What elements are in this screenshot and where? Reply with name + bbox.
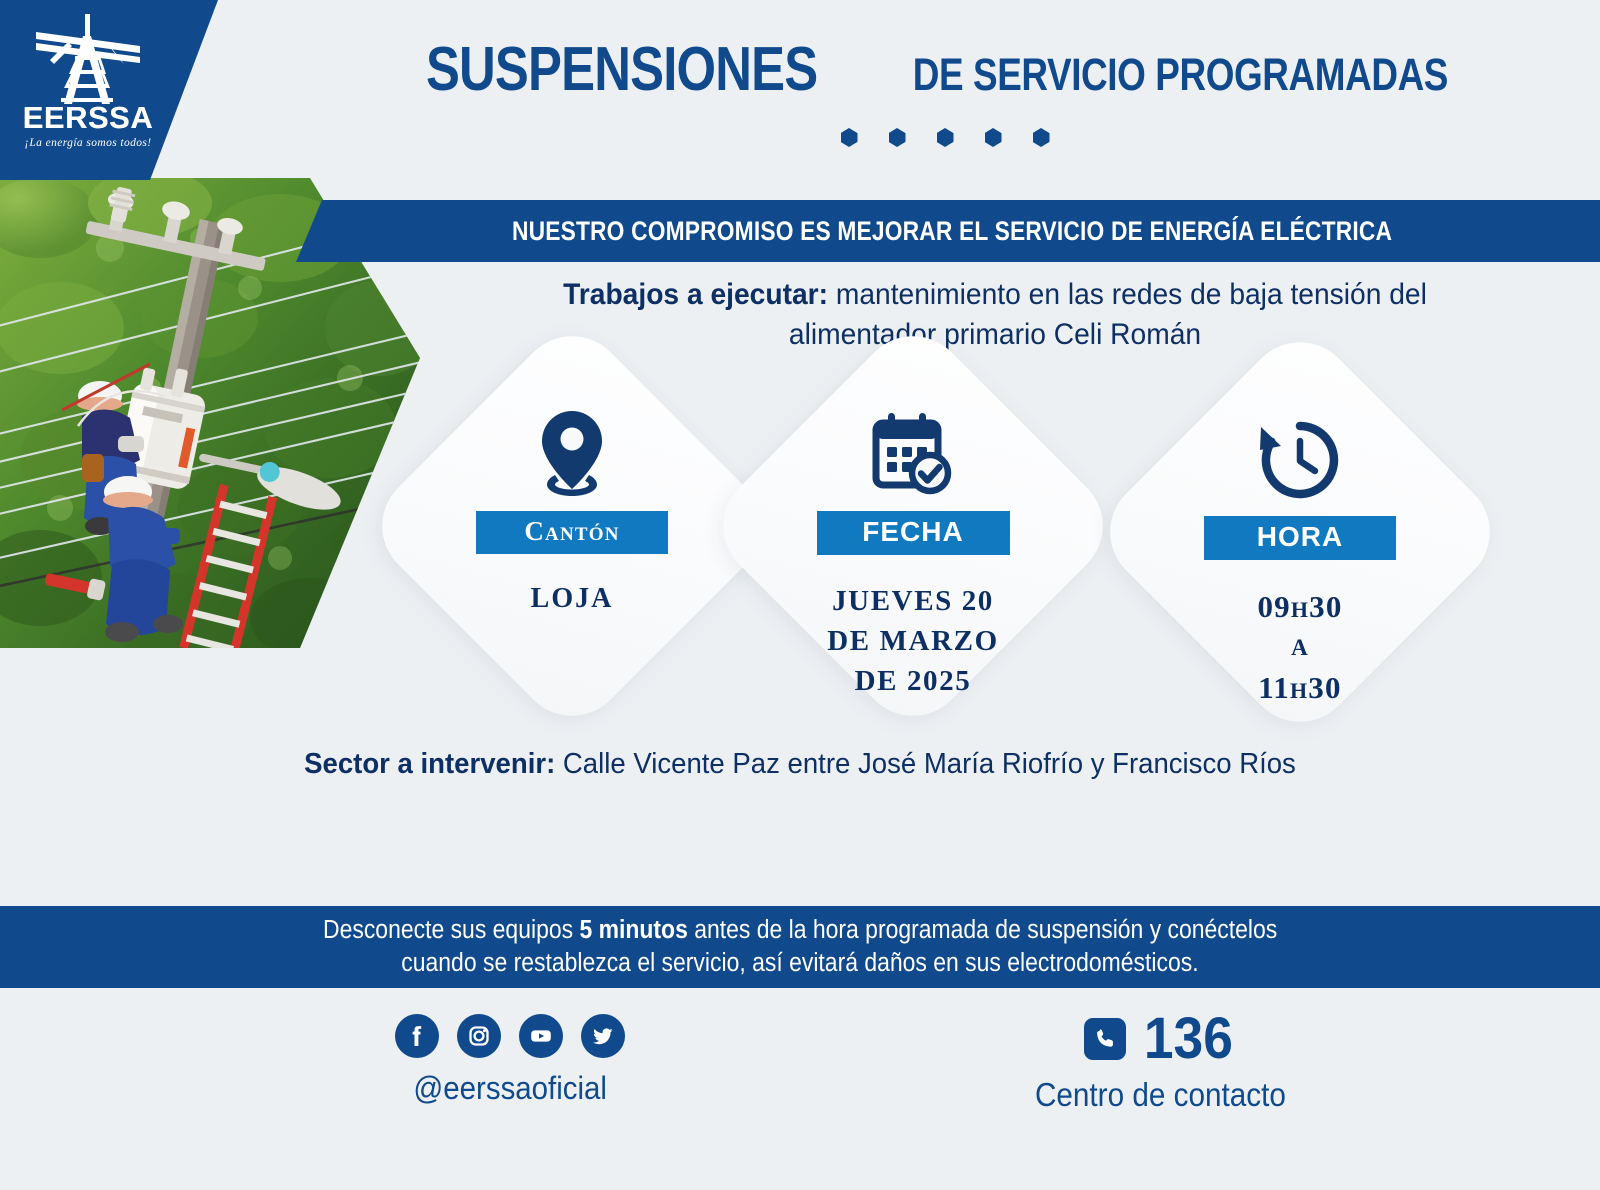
dot-icon	[841, 128, 858, 147]
card-hora-start-min: 30	[1309, 589, 1342, 624]
notice-line-1: Desconecte sus equipos 5 minutos antes d…	[323, 916, 1277, 945]
contact-block: 136 Centro de contacto	[930, 1010, 1390, 1114]
footer: @eerssaoficial 136 Centro de contacto	[0, 988, 1600, 1190]
card-canton-value: LOJA	[531, 580, 614, 619]
works-label: Trabajos a ejecutar:	[563, 278, 828, 311]
phone-icon	[1084, 1018, 1126, 1060]
notice-text-b: antes de la hora programada de suspensió…	[688, 916, 1277, 944]
page-title: SUSPENSIONESDE SERVICIO PROGRAMADAS	[300, 34, 1590, 105]
works-value-1: mantenimiento en las redes de baja tensi…	[828, 278, 1427, 311]
calendar-check-icon	[870, 407, 956, 503]
dot-icon	[937, 128, 954, 147]
dot-icon	[985, 128, 1002, 147]
youtube-icon[interactable]	[519, 1014, 563, 1058]
works-description: Trabajos a ejecutar: mantenimiento en la…	[464, 275, 1526, 354]
card-hora-label: HORA	[1257, 521, 1343, 552]
card-fecha-value-line-1: JUEVES 20	[827, 581, 999, 621]
card-fecha-label: FECHA	[862, 516, 963, 547]
card-hora-end-min: 30	[1308, 670, 1341, 705]
works-line-2: alimentador primario Celi Román	[464, 315, 1526, 355]
social-handle[interactable]: @eerssaoficial	[413, 1070, 607, 1107]
card-hora-value: 09H30 A 11H30	[1257, 586, 1342, 709]
works-line-1: Trabajos a ejecutar: mantenimiento en la…	[464, 275, 1526, 315]
contact-number[interactable]: 136	[1143, 1010, 1232, 1068]
dot-icon	[889, 128, 906, 147]
card-fecha-value-line-2: DE MARZO	[827, 621, 999, 661]
page-title-main: SUSPENSIONES	[426, 34, 817, 105]
page-title-rest: DE SERVICIO PROGRAMADAS	[913, 49, 1448, 101]
clock-restore-icon	[1257, 412, 1343, 508]
sector-label: Sector a intervenir:	[304, 748, 555, 780]
dot-icon	[1033, 128, 1050, 147]
notice-line-2: cuando se restablezca el servicio, así e…	[401, 949, 1198, 978]
logo-panel: EERSSA ¡La energía somos todos!	[0, 0, 218, 180]
card-hora-start: 09H30	[1257, 586, 1342, 629]
sector-line: Sector a intervenir: Calle Vicente Paz e…	[135, 748, 1465, 781]
card-canton: Cantón LOJA	[407, 407, 737, 619]
instagram-icon[interactable]	[457, 1014, 501, 1058]
location-pin-icon	[533, 407, 611, 503]
card-hora-end-num: 11	[1258, 670, 1290, 705]
card-fecha: FECHA JUEVES 20 DE MARZO DE 2025	[748, 407, 1078, 701]
poster-root: EERSSA ¡La energía somos todos! SUSPENSI…	[0, 0, 1600, 1190]
title-dot-separator	[300, 128, 1590, 147]
social-block: @eerssaoficial	[330, 1014, 690, 1107]
facebook-icon[interactable]	[395, 1014, 439, 1058]
notice-banner: Desconecte sus equipos 5 minutos antes d…	[0, 906, 1600, 988]
card-hora-separator: A	[1257, 632, 1342, 664]
card-hora-label-box: HORA	[1204, 516, 1396, 560]
notice-text-bold: 5 minutos	[579, 916, 687, 944]
card-hora-start-h: H	[1291, 597, 1309, 622]
card-fecha-value: JUEVES 20 DE MARZO DE 2025	[827, 581, 999, 701]
twitter-icon[interactable]	[581, 1014, 625, 1058]
card-fecha-value-line-3: DE 2025	[827, 661, 999, 701]
contact-label: Centro de contacto	[1035, 1076, 1286, 1114]
sector-value: Calle Vicente Paz entre José María Riofr…	[555, 748, 1296, 780]
logo-tagline: ¡La energía somos todos!	[24, 137, 151, 149]
notice-text-a: Desconecte sus equipos	[323, 916, 579, 944]
card-canton-label-box: Cantón	[476, 511, 668, 554]
logo-inner: EERSSA ¡La energía somos todos!	[8, 12, 168, 162]
card-hora-end: 11H30	[1257, 667, 1342, 710]
social-icon-row	[395, 1014, 625, 1058]
card-fecha-label-box: FECHA	[817, 511, 1010, 555]
commitment-banner-text: NUESTRO COMPROMISO ES MEJORAR EL SERVICI…	[504, 216, 1393, 247]
card-hora: HORA 09H30 A 11H30	[1135, 412, 1465, 709]
commitment-banner: NUESTRO COMPROMISO ES MEJORAR EL SERVICI…	[296, 200, 1600, 262]
card-canton-label: Cantón	[524, 516, 619, 546]
card-hora-end-h: H	[1290, 678, 1308, 703]
contact-row: 136	[1084, 1010, 1237, 1068]
card-hora-start-num: 09	[1257, 589, 1290, 624]
logo-wordmark: EERSSA	[23, 102, 153, 133]
